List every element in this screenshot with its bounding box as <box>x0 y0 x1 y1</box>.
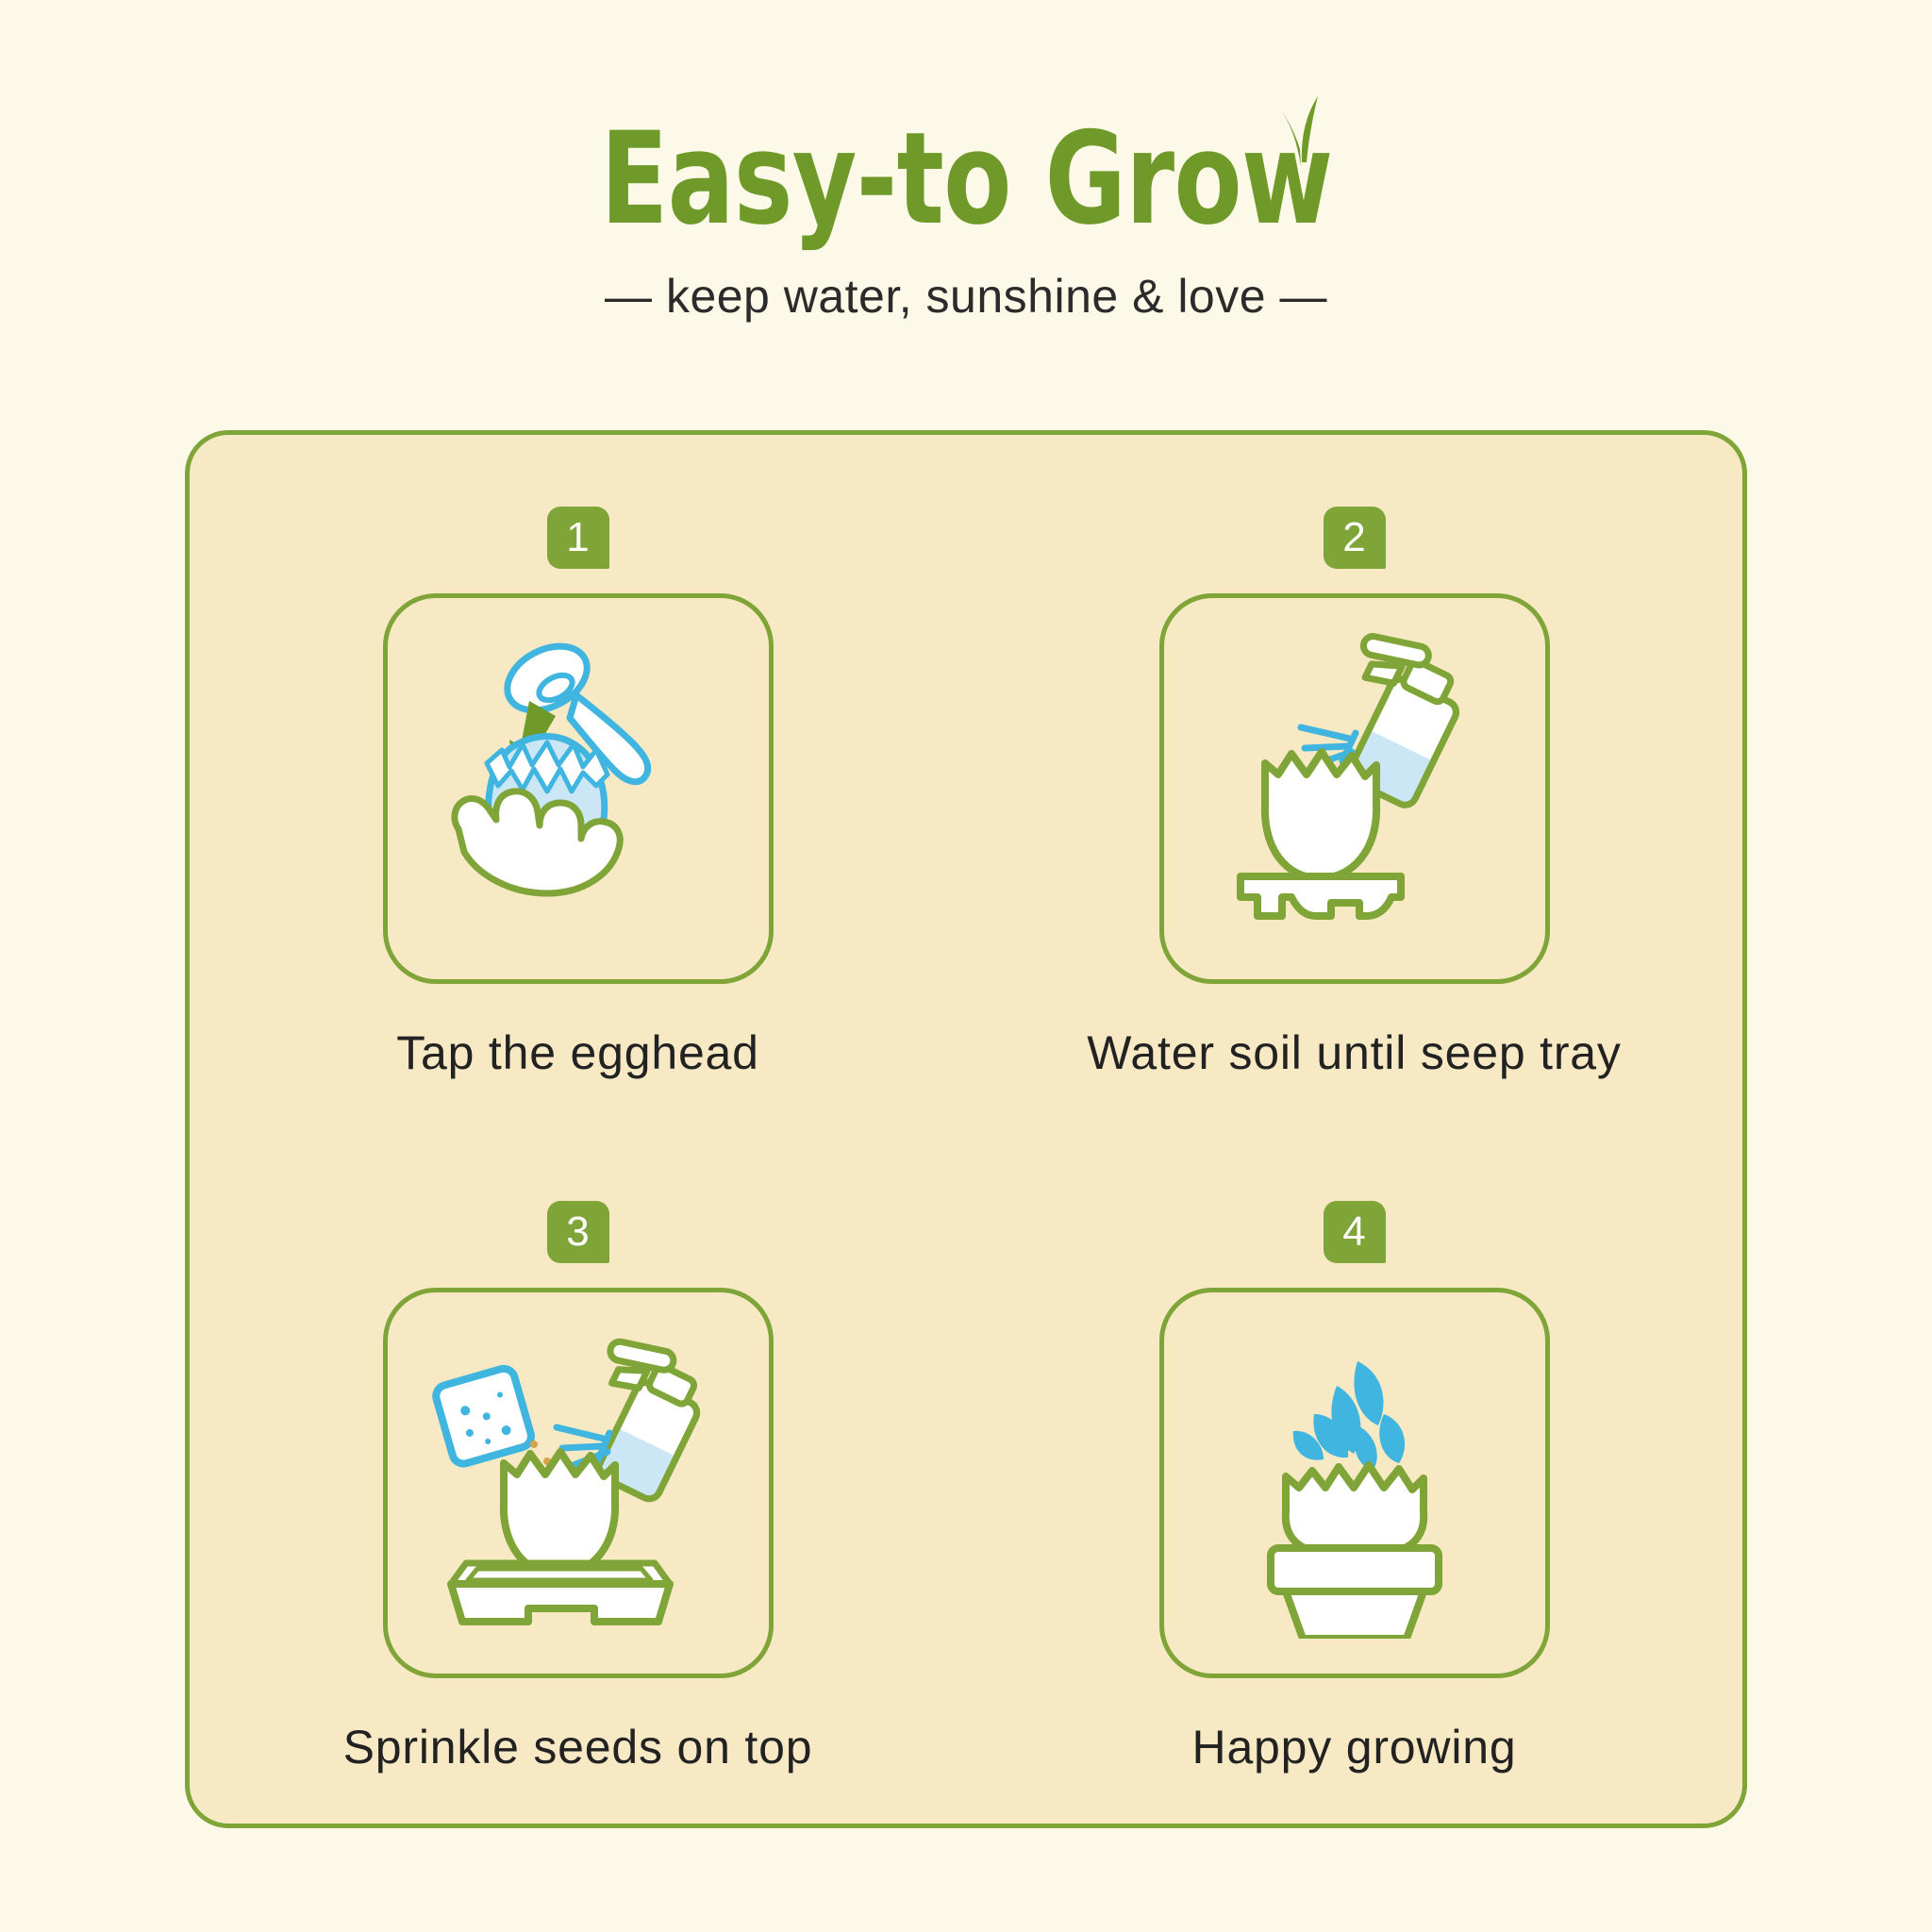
title-wrap: Easy-to Grow <box>497 115 1436 242</box>
step-2: 2 <box>966 435 1742 1129</box>
step-illustration-card-2 <box>1159 593 1550 984</box>
hand-holding-cracked-egg-with-spoon-and-arrow-icon <box>423 633 734 944</box>
step-caption-4: Happy growing <box>1192 1720 1517 1774</box>
step-badge-3: 3 <box>547 1201 609 1263</box>
step-caption-1: Tap the egghead <box>396 1025 759 1080</box>
steps-panel: 1 <box>185 430 1747 1828</box>
sprouting-eggshell-in-flower-pot-icon <box>1199 1327 1510 1639</box>
seed-shaker-and-spray-bottle-over-eggshell-in-carton-icon <box>423 1327 734 1639</box>
step-illustration-card-3 <box>383 1288 774 1678</box>
step-4: 4 <box>966 1129 1742 1824</box>
page-title: Easy-to Grow <box>600 115 1332 242</box>
page-subtitle: — keep water, sunshine & love — <box>0 269 1932 324</box>
step-badge-4: 4 <box>1324 1201 1386 1263</box>
infographic-page: Easy-to Grow — keep water, sunshine & lo… <box>0 0 1932 1932</box>
spray-bottle-watering-eggshell-on-tray-icon <box>1199 633 1510 944</box>
step-illustration-card-1 <box>383 593 774 984</box>
step-1: 1 <box>190 435 966 1129</box>
step-3: 3 <box>190 1129 966 1824</box>
step-badge-1: 1 <box>547 507 609 569</box>
step-caption-2: Water soil until seep tray <box>1087 1025 1621 1080</box>
step-caption-3: Sprinkle seeds on top <box>343 1720 813 1774</box>
step-badge-2: 2 <box>1324 507 1386 569</box>
steps-grid: 1 <box>190 435 1742 1824</box>
step-illustration-card-4 <box>1159 1288 1550 1678</box>
header: Easy-to Grow — keep water, sunshine & lo… <box>0 115 1932 324</box>
